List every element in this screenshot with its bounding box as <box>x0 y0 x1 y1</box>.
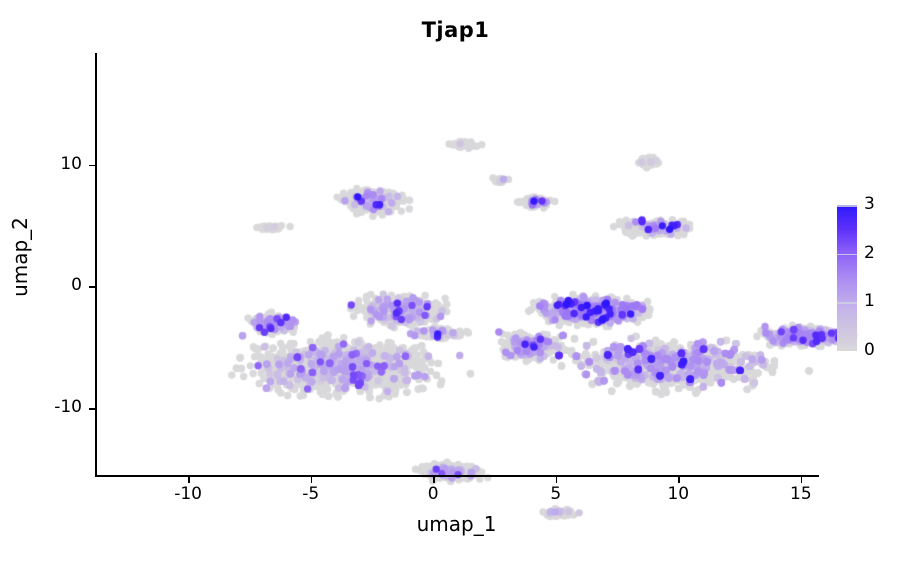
colorbar-tick-mark <box>837 302 857 304</box>
x-tick-label: 15 <box>771 484 831 504</box>
colorbar-tick-label: 0 <box>864 340 875 360</box>
x-tick-label: 10 <box>648 484 708 504</box>
colorbar-tick-label: 3 <box>864 194 875 214</box>
colorbar-tick-label: 1 <box>864 291 875 311</box>
x-tick-mark <box>678 477 680 483</box>
x-tick-mark <box>188 477 190 483</box>
y-tick-mark <box>89 165 95 167</box>
x-tick-label: 0 <box>403 484 463 504</box>
colorbar-tick-label: 2 <box>864 243 875 263</box>
y-tick-label: -10 <box>22 397 82 417</box>
x-tick-mark <box>433 477 435 483</box>
x-tick-label: -10 <box>158 484 218 504</box>
y-tick-mark <box>89 408 95 410</box>
x-axis-label: umap_1 <box>95 512 818 536</box>
x-tick-label: -5 <box>281 484 341 504</box>
y-axis-spine <box>95 53 97 477</box>
umap-feature-plot-figure: Tjap1 -10-5051015 -10010 umap_1 umap_2 3… <box>0 0 911 562</box>
y-tick-mark <box>89 286 95 288</box>
colorbar-tick-mark <box>837 205 857 207</box>
colorbar-gradient <box>837 205 857 351</box>
plot-area <box>95 53 818 476</box>
x-axis-spine <box>95 475 819 477</box>
page-title: Tjap1 <box>0 18 911 42</box>
x-tick-mark <box>556 477 558 483</box>
x-tick-mark <box>311 477 313 483</box>
scatter-canvas <box>190 106 911 529</box>
y-axis-label: umap_2 <box>8 157 32 357</box>
x-tick-label: 5 <box>526 484 586 504</box>
colorbar <box>837 205 857 351</box>
colorbar-tick-mark <box>837 254 857 256</box>
x-tick-mark <box>801 477 803 483</box>
